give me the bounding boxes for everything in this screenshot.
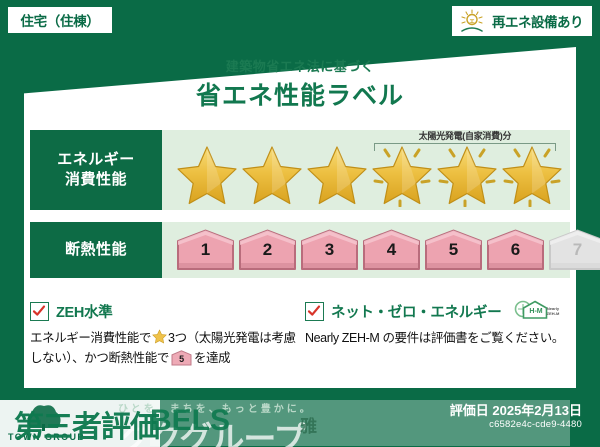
energy-consumption-label: エネルギー 消費性能 [30, 130, 162, 210]
insulation-level-number: 1 [176, 240, 235, 260]
label-footer: 評価日 2025年2月13日 c6582e4c-cde9-4480 [0, 395, 600, 447]
evaluation-id: c6582e4c-cde9-4480 [489, 419, 582, 430]
energy-consumption-row: エネルギー 消費性能 太陽光発電(自家消費)分 [30, 130, 570, 210]
zeh-m-house-icon: H-M Nearly ZEH-M [513, 297, 561, 326]
zeh-standard-block: ZEH水準 エネルギー消費性能で 3つ（太陽光発電は考慮しない）、かつ断熱性能で… [30, 300, 300, 367]
inline-level-number: 5 [171, 353, 192, 366]
net-zero-checkbox [305, 302, 324, 321]
solar-sun-icon: ェ [458, 8, 488, 34]
zeh-desc-part3: を達成 [194, 351, 230, 365]
zeh-description: エネルギー消費性能で 3つ（太陽光発電は考慮しない）、かつ断熱性能で 5 を達成 [30, 329, 300, 367]
star-1 [174, 135, 237, 205]
insulation-level-number: 7 [548, 240, 600, 260]
renewable-equipment-label: 再エネ設備あり [492, 11, 583, 31]
net-zero-description: Nearly ZEH-M の要件は評価書をご覧ください。 [305, 329, 580, 347]
net-zero-title: ネット・ゼロ・エネルギー [331, 301, 501, 322]
star-6 [499, 135, 562, 205]
insulation-level-4: 4 [362, 229, 421, 271]
insulation-label-text: 断熱性能 [65, 240, 127, 260]
energy-label-line1: エネルギー [57, 150, 135, 170]
inline-star-icon [152, 329, 167, 349]
renewable-equipment-chip: ェ 再エネ設備あり [452, 6, 592, 36]
insulation-performance-row: 断熱性能 1 2 3 [30, 222, 570, 278]
insulation-level-6: 6 [486, 229, 545, 271]
star-rating [174, 130, 582, 210]
insulation-level-7: 7 [548, 229, 600, 271]
insulation-level-number: 6 [486, 240, 545, 260]
insulation-level-3: 3 [300, 229, 359, 271]
insulation-level-2: 2 [238, 229, 297, 271]
zeh-desc-part1: エネルギー消費性能で [30, 331, 151, 345]
label-main-title: 省エネ性能ラベル [0, 76, 600, 112]
svg-text:ZEH-M: ZEH-M [547, 311, 560, 316]
evaluation-date: 評価日 2025年2月13日 [450, 400, 582, 419]
star-3 [304, 135, 367, 205]
label-subtitle: 建築物省エネ法に基づく [0, 56, 600, 75]
svg-text:ェ: ェ [469, 18, 476, 25]
insulation-level-5: 5 [424, 229, 483, 271]
insulation-level-1: 1 [176, 229, 235, 271]
zeh-heading: ZEH水準 [30, 300, 300, 322]
star-5 [434, 135, 497, 205]
building-type-chip: 住宅（住棟） [8, 7, 112, 33]
insulation-level-number: 2 [238, 240, 297, 260]
building-type-label: 住宅（住棟） [20, 10, 99, 30]
insulation-level-number: 4 [362, 240, 421, 260]
net-zero-energy-block: ネット・ゼロ・エネルギー H-M Nearly ZEH-M Nearly ZEH… [305, 300, 580, 347]
energy-performance-label: 住宅（住棟） ェ 再エネ設備あり 建築物省エネ法に基づく 省 [0, 0, 600, 447]
zeh-title: ZEH水準 [56, 301, 113, 322]
zeh-m-logo-text: H-M [530, 308, 543, 315]
energy-label-line2: 消費性能 [65, 170, 127, 190]
energy-consumption-body: 太陽光発電(自家消費)分 [162, 130, 570, 210]
insulation-performance-label: 断熱性能 [30, 222, 162, 278]
zeh-checkbox [30, 302, 49, 321]
insulation-level-number: 5 [424, 240, 483, 260]
net-zero-heading: ネット・ゼロ・エネルギー H-M Nearly ZEH-M [305, 300, 580, 322]
insulation-level-number: 3 [300, 240, 359, 260]
insulation-level-scale: 1 2 3 4 [176, 222, 600, 278]
inline-level-badge: 5 [171, 350, 192, 366]
insulation-performance-body: 1 2 3 4 [162, 222, 570, 278]
star-2 [239, 135, 302, 205]
star-4 [369, 135, 432, 205]
